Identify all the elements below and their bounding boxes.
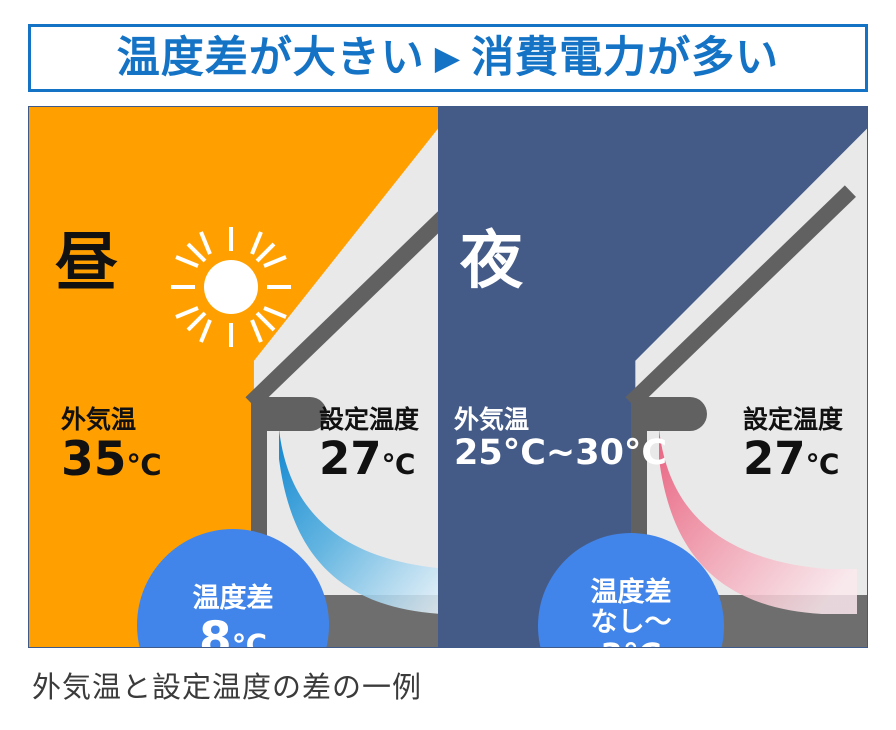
night-outdoor-value: 25°C~30°C: [454, 435, 667, 472]
night-indoor-number: 27: [743, 432, 806, 485]
day-difference-unit: ℃: [232, 628, 267, 648]
day-indoor-number: 27: [319, 432, 382, 485]
night-indoor-title: 設定温度: [743, 407, 843, 433]
day-difference-value: 8℃: [199, 614, 267, 648]
day-outdoor-number: 35: [61, 432, 126, 487]
night-label: 夜: [460, 229, 523, 292]
day-outdoor-unit: ℃: [126, 448, 161, 482]
day-indoor-temperature: 設定温度 27℃: [319, 407, 419, 483]
day-indoor-unit: ℃: [382, 448, 416, 481]
day-outdoor-temperature: 外気温 35℃: [61, 407, 162, 485]
night-outdoor-temperature: 外気温 25°C~30°C: [454, 407, 667, 472]
arrow-right-icon: ▶: [425, 38, 471, 77]
panel-night: 夜 外気温 25°C~30°C 設定温度 27℃ 温度差: [438, 106, 868, 648]
day-difference-title: 温度差: [193, 584, 274, 614]
day-indoor-value: 27℃: [319, 435, 419, 482]
day-air-conditioner: [259, 397, 327, 431]
night-difference-value: 3℃: [600, 638, 661, 648]
day-label: 昼: [55, 231, 118, 294]
day-outdoor-value: 35℃: [61, 435, 162, 484]
day-difference-number: 8: [199, 612, 232, 648]
day-outdoor-title: 外気温: [61, 407, 162, 433]
night-outdoor-number: 25°C~30°C: [454, 433, 667, 473]
night-indoor-temperature: 設定温度 27℃: [743, 407, 843, 483]
night-indoor-value: 27℃: [743, 435, 843, 482]
day-indoor-title: 設定温度: [319, 407, 419, 433]
header-banner: 温度差が大きい▶消費電力が多い: [28, 24, 868, 92]
header-title: 温度差が大きい▶消費電力が多い: [117, 37, 779, 80]
comparison-panels: 昼 外気温 35℃ 設定温度 27℃ 温度差 8℃: [28, 106, 868, 648]
night-outdoor-title: 外気温: [454, 407, 667, 433]
night-difference-title: 温度差: [591, 578, 672, 608]
header-right-text: 消費電力が多い: [471, 33, 779, 83]
figure-caption: 外気温と設定温度の差の一例: [32, 664, 422, 706]
sun-icon: [169, 225, 293, 349]
night-difference-line2: なし〜: [591, 608, 672, 638]
header-left-text: 温度差が大きい: [117, 33, 425, 83]
night-difference-number: 3℃: [600, 636, 661, 648]
panel-day: 昼 外気温 35℃ 設定温度 27℃ 温度差 8℃: [28, 106, 438, 648]
night-indoor-unit: ℃: [806, 448, 840, 481]
